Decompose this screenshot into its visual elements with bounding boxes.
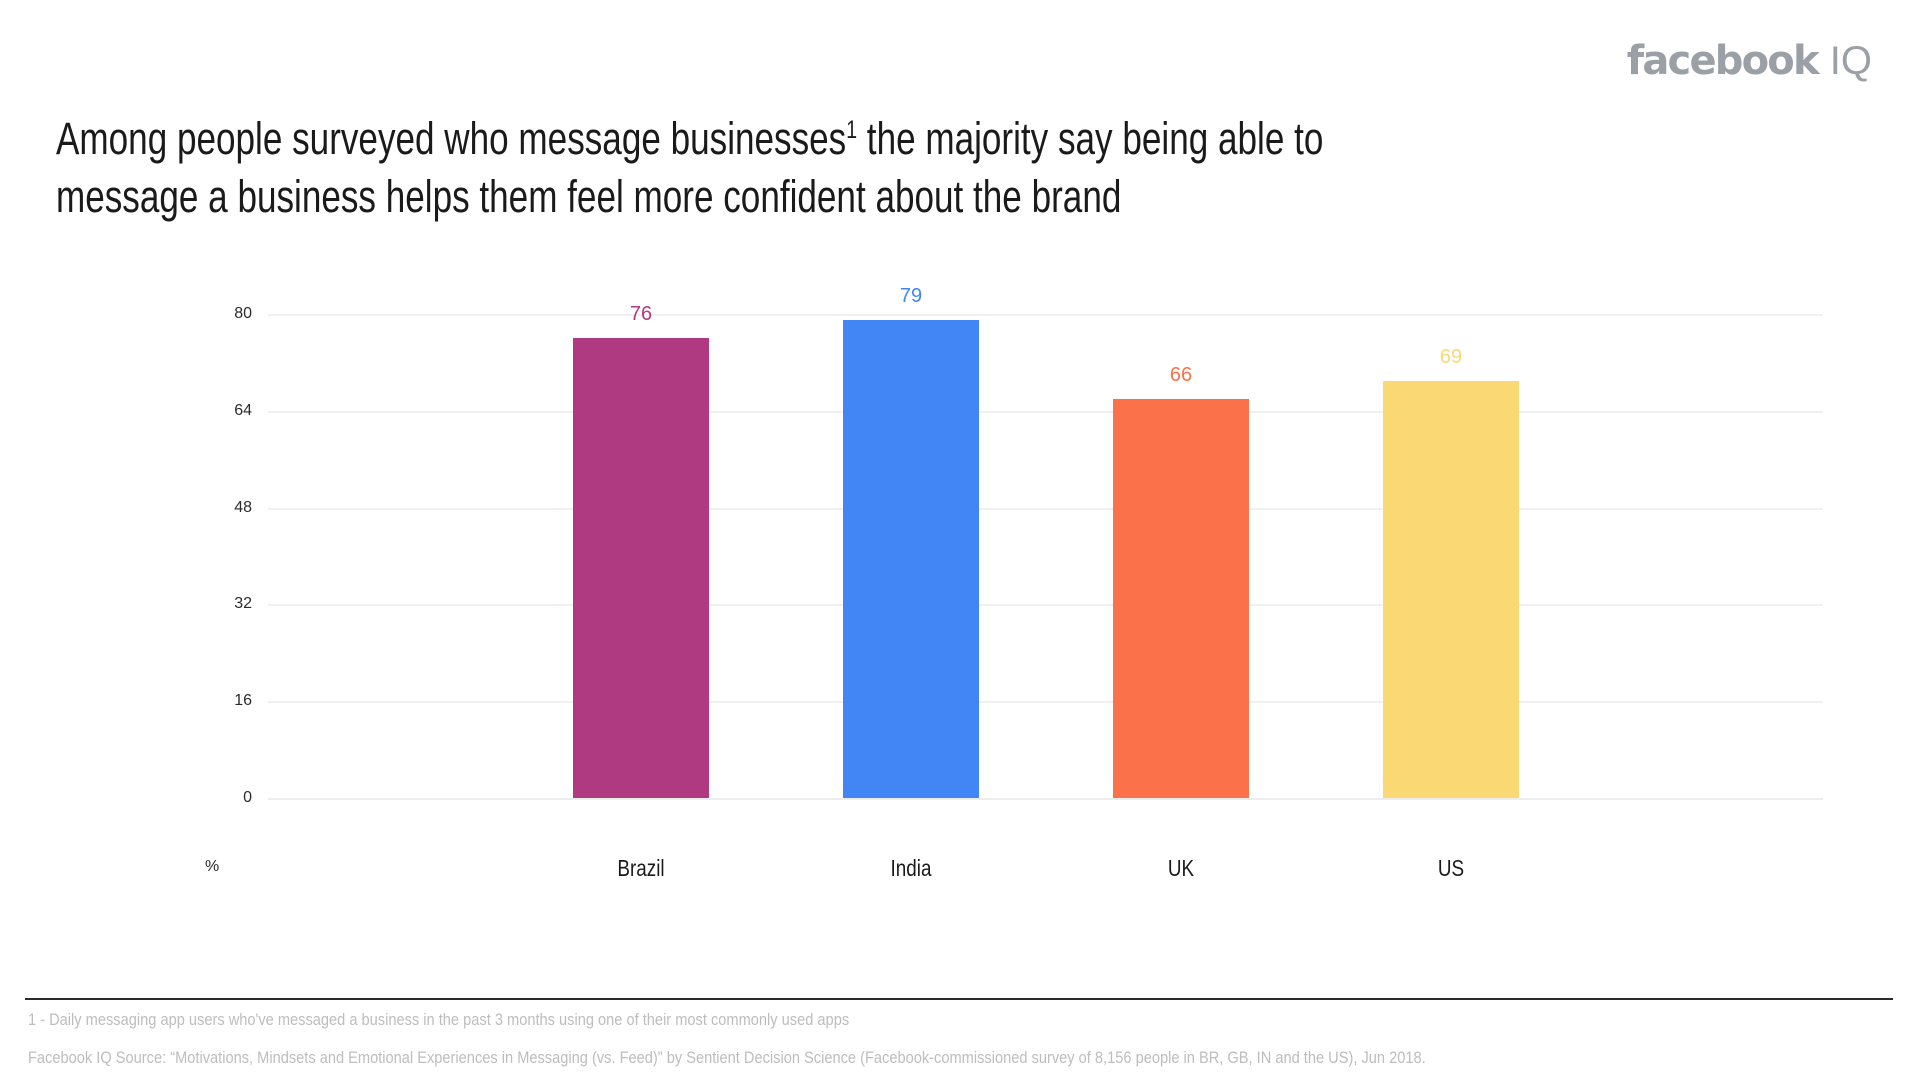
y-axis-tick-label: 32 <box>234 595 252 613</box>
bar-value-label: 79 <box>843 285 979 308</box>
x-axis-label-brazil: Brazil <box>559 855 723 882</box>
gridline <box>268 508 1823 510</box>
x-axis-label-us: US <box>1369 855 1533 882</box>
bar-india[interactable] <box>843 320 979 798</box>
gridline <box>268 604 1823 606</box>
x-axis-label-india: India <box>829 855 993 882</box>
y-axis-tick-label: 80 <box>234 305 252 323</box>
bar-value-label: 66 <box>1113 364 1249 387</box>
bar-group[interactable]: 69 <box>1383 314 1519 798</box>
page-title: Among people surveyed who message busine… <box>56 110 1382 226</box>
facebook-iq-logo: facebook IQ <box>1627 38 1872 84</box>
bar-brazil[interactable] <box>573 338 709 798</box>
bar-us[interactable] <box>1383 381 1519 798</box>
brand-name-iq: IQ <box>1830 39 1872 84</box>
bar-value-label: 76 <box>573 303 709 326</box>
gridline <box>268 314 1823 316</box>
x-axis-label-uk: UK <box>1099 855 1263 882</box>
gridline <box>268 701 1823 703</box>
gridline <box>268 798 1823 800</box>
footer-divider <box>25 998 1893 1000</box>
brand-name-facebook: facebook <box>1627 38 1818 84</box>
y-axis-tick-label: 64 <box>234 402 252 420</box>
plot-area: 76796669 <box>268 314 1823 798</box>
y-axis-tick-label: 48 <box>234 499 252 517</box>
title-part-1: Among people surveyed who message busine… <box>56 113 846 164</box>
footnote-text: 1 - Daily messaging app users who've mes… <box>28 1010 849 1030</box>
bar-group[interactable]: 66 <box>1113 314 1249 798</box>
bar-group[interactable]: 79 <box>843 314 979 798</box>
y-axis-tick-label: 16 <box>234 692 252 710</box>
source-text: Facebook IQ Source: “Motivations, Mindse… <box>28 1048 1426 1068</box>
y-axis-unit-label: % <box>205 858 219 876</box>
bar-uk[interactable] <box>1113 399 1249 798</box>
y-axis: 01632486480 <box>190 314 252 798</box>
bar-value-label: 69 <box>1383 346 1519 369</box>
gridline <box>268 411 1823 413</box>
bar-group[interactable]: 76 <box>573 314 709 798</box>
y-axis-tick-label: 0 <box>243 789 252 807</box>
title-footnote-marker: 1 <box>846 116 857 144</box>
